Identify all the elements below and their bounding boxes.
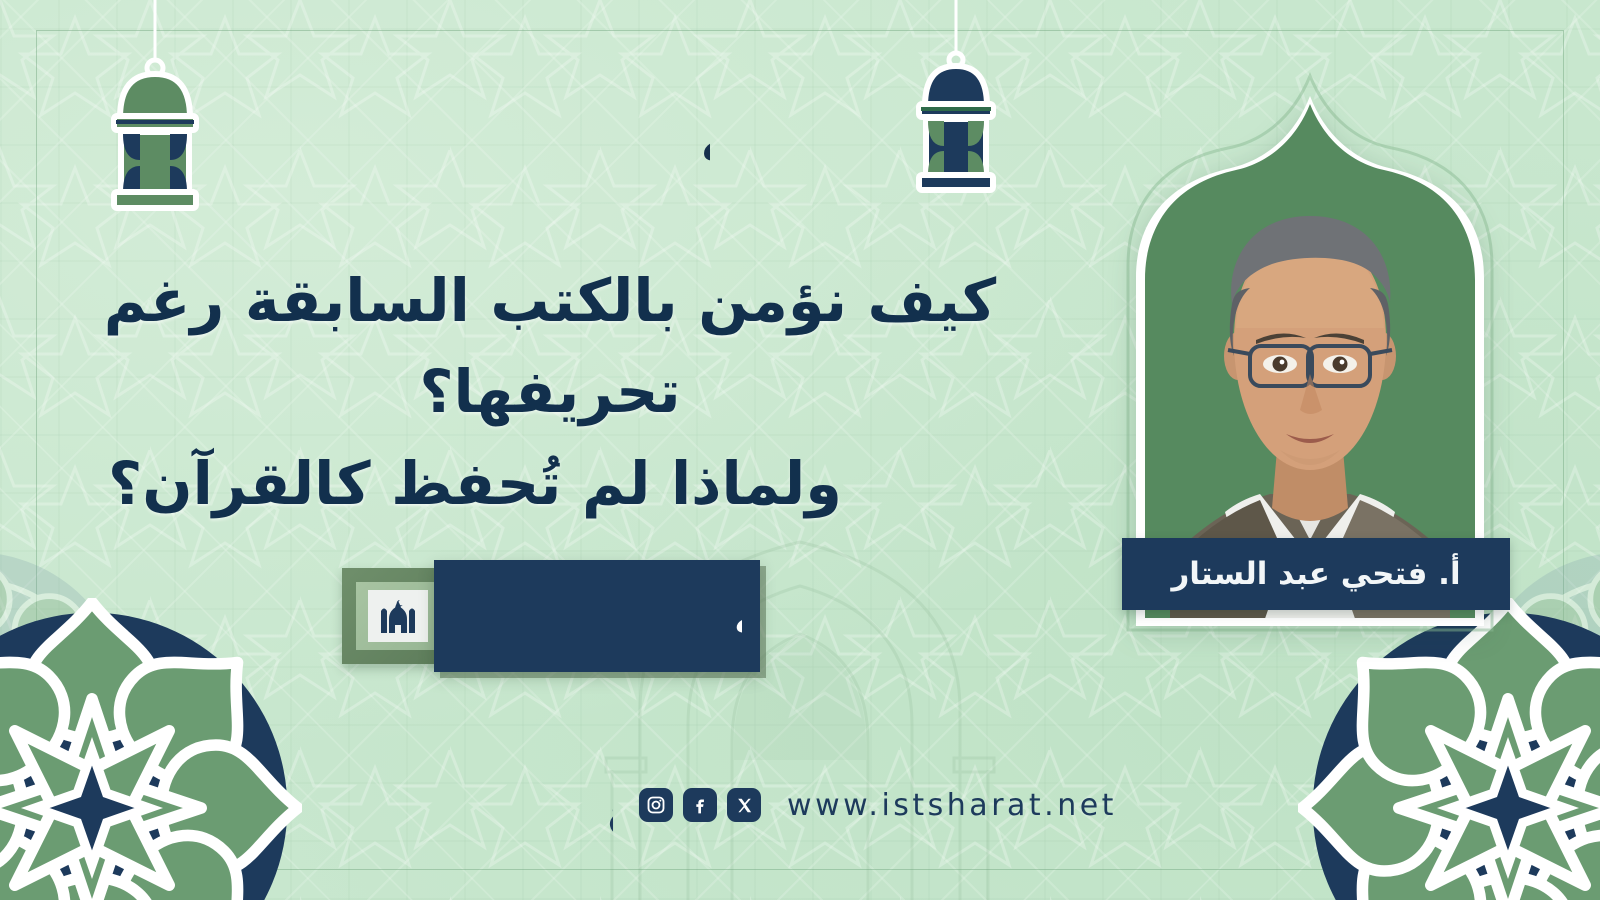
speaker-name: أ. فتحي عبد الستار bbox=[1171, 556, 1460, 592]
category-banner: استشارات إيمانية bbox=[342, 560, 760, 672]
lantern-navy-icon bbox=[908, 0, 1004, 205]
headline-line-2: ولماذا لم تُحفظ كالقرآن؟ bbox=[20, 438, 1080, 529]
footer-brand-calligraphy: المجتمع bbox=[483, 762, 613, 848]
headline: كيف نؤمن بالكتب السابقة رغم تحريفها؟ ولم… bbox=[20, 255, 1080, 529]
mosque-icon bbox=[377, 597, 419, 635]
footer: المجتمع www.istsharat.net bbox=[0, 762, 1600, 848]
facebook-icon[interactable] bbox=[683, 788, 717, 822]
social-links bbox=[639, 788, 761, 822]
brand-calligraphy: بوابة الاستشارات الإلكترونية bbox=[190, 62, 710, 207]
headline-line-1: كيف نؤمن بالكتب السابقة رغم تحريفها؟ bbox=[20, 255, 1080, 438]
category-tile bbox=[368, 590, 428, 642]
instagram-icon[interactable] bbox=[639, 788, 673, 822]
category-label: استشارات إيمانية bbox=[734, 594, 742, 644]
footer-brand-text: المجتمع bbox=[607, 778, 613, 837]
website-url[interactable]: www.istsharat.net bbox=[787, 788, 1117, 823]
x-twitter-icon[interactable] bbox=[727, 788, 761, 822]
category-strip: استشارات إيمانية bbox=[434, 560, 760, 672]
category-plaque-inner bbox=[356, 582, 440, 650]
bottom-left-rosette bbox=[0, 598, 302, 900]
poster-canvas: بوابة الاستشارات الإلكترونية كيف نؤمن با… bbox=[0, 0, 1600, 900]
brand-calligraphy-text: بوابة الاستشارات الإلكترونية bbox=[700, 104, 710, 177]
speaker-name-bar: أ. فتحي عبد الستار bbox=[1122, 538, 1510, 610]
